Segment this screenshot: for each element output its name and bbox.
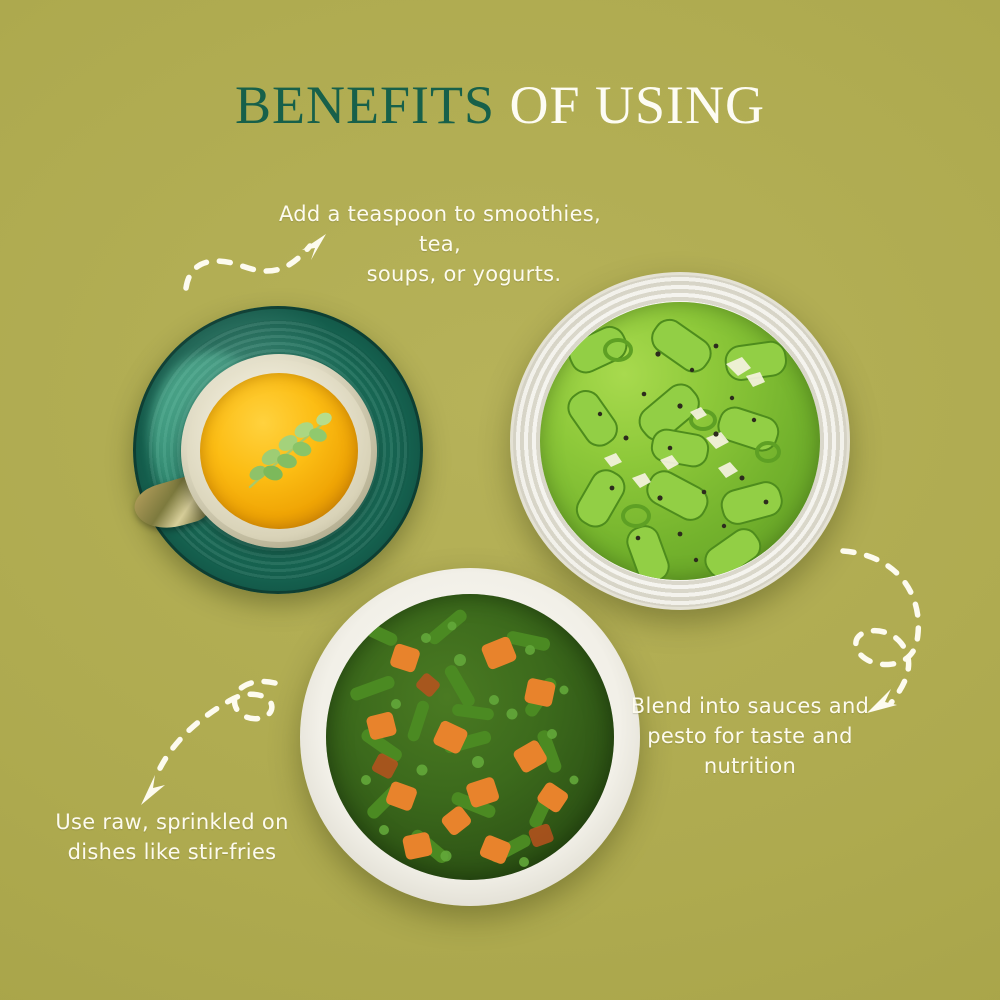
annotation-raw-line-1: Use raw, sprinkled on bbox=[42, 808, 302, 838]
annotation-smoothies: Add a teaspoon to smoothies, tea, soups,… bbox=[255, 200, 625, 289]
dashed-arrow-to-raw-note bbox=[125, 675, 290, 820]
moringa-sprig-icon bbox=[240, 407, 336, 499]
annotation-smoothies-line-1: Add a teaspoon to smoothies, tea, bbox=[255, 200, 625, 260]
stirfry-texture bbox=[326, 594, 614, 880]
annotation-blend-line-1: Blend into sauces and bbox=[630, 692, 870, 722]
annotation-blend-line-2: pesto for taste and bbox=[630, 722, 870, 752]
annotation-smoothies-line-2: soups, or yogurts. bbox=[303, 260, 625, 290]
stirfry-food bbox=[326, 594, 614, 880]
cup-rim bbox=[187, 360, 371, 542]
stirfry-image bbox=[300, 568, 640, 906]
teacup-image bbox=[133, 306, 423, 594]
title-part-benefits: BENEFITS bbox=[235, 75, 495, 135]
pasta-texture bbox=[540, 302, 820, 580]
page-title: BENEFITS OF USING bbox=[0, 78, 1000, 132]
poster-canvas: BENEFITS OF USING bbox=[0, 0, 1000, 1000]
tea-liquid bbox=[200, 373, 358, 529]
title-part-of-using: OF USING bbox=[495, 75, 765, 135]
annotation-raw: Use raw, sprinkled on dishes like stir-f… bbox=[42, 808, 302, 868]
annotation-blend: Blend into sauces and pesto for taste an… bbox=[630, 692, 870, 781]
cup-body bbox=[181, 354, 377, 548]
pasta-image bbox=[510, 272, 850, 610]
annotation-blend-line-3: nutrition bbox=[630, 752, 870, 782]
pesto-pasta bbox=[540, 302, 820, 580]
annotation-raw-line-2: dishes like stir-fries bbox=[42, 838, 302, 868]
